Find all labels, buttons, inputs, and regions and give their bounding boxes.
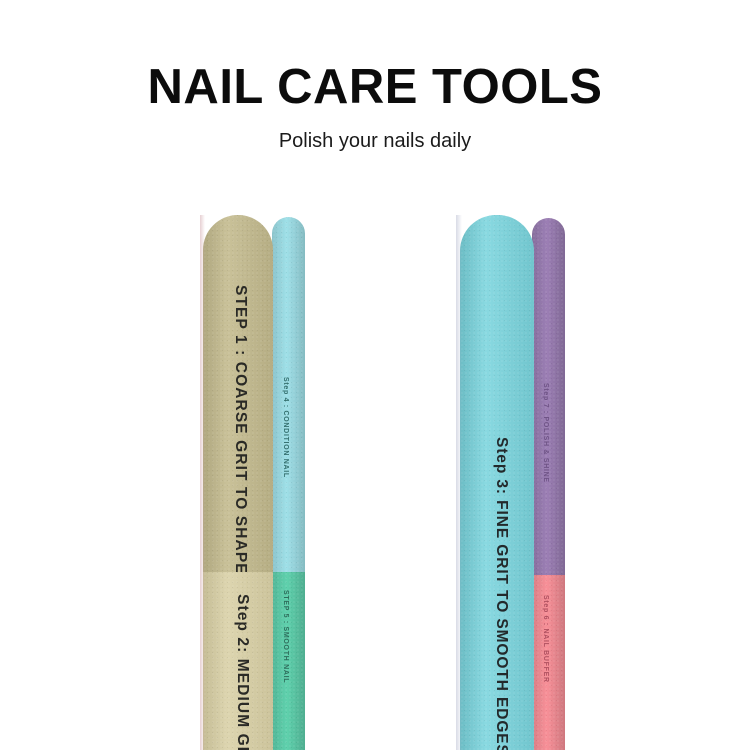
face-coarse-label: STEP 1 : COARSE GRIT TO SHAPE NAIL (233, 285, 249, 572)
right-nail-file[interactable]: Step 7 : POLISH & SHINE Step 6 : NAIL BU… (456, 213, 570, 750)
left-nail-file[interactable]: Step 4 : CONDITION NAIL STEP 5 : SMOOTH … (200, 213, 308, 750)
face-medium-label: Step 2: MEDIUM GRIT T (235, 594, 251, 750)
edge-condition-label: Step 4 : CONDITION NAIL (282, 377, 289, 478)
edge-nail-buffer: Step 6 : NAIL BUFFER (532, 575, 565, 750)
edge-smooth-nail: STEP 5 : SMOOTH NAIL (272, 572, 305, 750)
page-title: NAIL CARE TOOLS (0, 62, 750, 113)
edge-polish-shine: Step 7 : POLISH & SHINE (532, 218, 565, 575)
edge-smooth-label: STEP 5 : SMOOTH NAIL (282, 590, 289, 683)
face-fine-grit: Step 3: FINE GRIT TO SMOOTH EDGES OF NAI… (460, 215, 534, 750)
page-subtitle: Polish your nails daily (0, 113, 750, 153)
face-medium-grit: Step 2: MEDIUM GRIT T (203, 572, 273, 750)
face-fine-label: Step 3: FINE GRIT TO SMOOTH EDGES OF NAI… (494, 437, 510, 750)
edge-condition-nail: Step 4 : CONDITION NAIL (272, 217, 305, 572)
edge-polish-label: Step 7 : POLISH & SHINE (542, 383, 549, 483)
header-block: NAIL CARE TOOLS Polish your nails daily (0, 62, 750, 153)
face-coarse-grit: STEP 1 : COARSE GRIT TO SHAPE NAIL (203, 215, 273, 572)
edge-buffer-label: Step 6 : NAIL BUFFER (542, 595, 549, 683)
product-photo-scene: NAIL CARE TOOLS Polish your nails daily … (0, 0, 750, 750)
